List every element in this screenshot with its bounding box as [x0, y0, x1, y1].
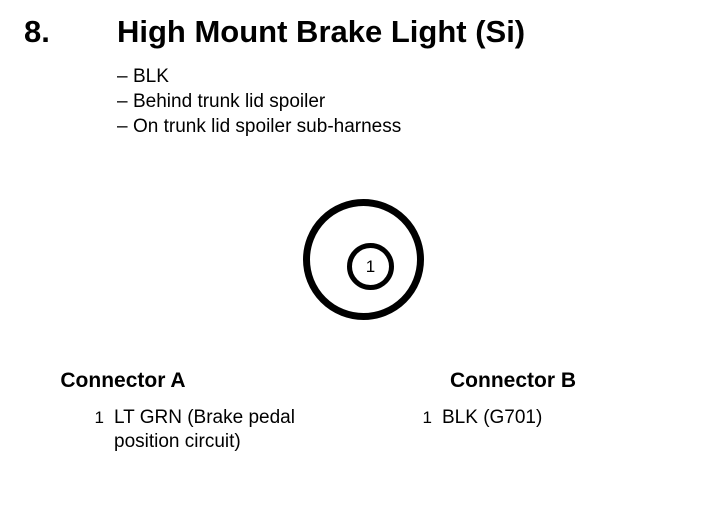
connector-cavity-1-icon: 1	[347, 243, 394, 290]
table-row: 1 BLK (G701)	[330, 406, 704, 430]
item-number: 8.	[24, 12, 50, 52]
pin-description: BLK (G701)	[442, 406, 704, 430]
connector-b-block: Connector B 1 BLK (G701)	[330, 368, 704, 430]
spec-item-label: Behind trunk lid spoiler	[133, 91, 325, 112]
pin-number: 1	[416, 406, 432, 430]
cavity-number-label: 1	[352, 248, 389, 285]
dash-bullet-icon: –	[117, 64, 133, 89]
spec-item: –BLK	[117, 64, 637, 89]
spec-item: –On trunk lid spoiler sub-harness	[117, 114, 637, 139]
connector-b-heading: Connector B	[330, 368, 704, 394]
document-page: 8. High Mount Brake Light (Si) –BLK –Beh…	[0, 0, 704, 520]
page-title: High Mount Brake Light (Si)	[117, 12, 525, 52]
connector-b-pin-table: 1 BLK (G701)	[330, 406, 704, 430]
spec-item-label: BLK	[133, 66, 169, 87]
dash-bullet-icon: –	[117, 114, 133, 139]
connector-a-heading: Connector A	[0, 368, 330, 394]
table-row: 1 LT GRN (Brake pedal position circuit)	[0, 406, 330, 454]
spec-item-label: On trunk lid spoiler sub-harness	[133, 116, 401, 137]
page-header: 8. High Mount Brake Light (Si)	[0, 12, 704, 56]
dash-bullet-icon: –	[117, 89, 133, 114]
spec-list: –BLK –Behind trunk lid spoiler –On trunk…	[117, 64, 637, 139]
pin-description: LT GRN (Brake pedal position circuit)	[114, 406, 330, 454]
spec-item: –Behind trunk lid spoiler	[117, 89, 637, 114]
pin-number: 1	[88, 406, 104, 430]
connector-a-pin-table: 1 LT GRN (Brake pedal position circuit)	[0, 406, 330, 454]
connector-face-diagram: 1	[303, 199, 424, 320]
connector-outer-ring-icon: 1	[303, 199, 424, 320]
connector-a-block: Connector A 1 LT GRN (Brake pedal positi…	[0, 368, 330, 454]
